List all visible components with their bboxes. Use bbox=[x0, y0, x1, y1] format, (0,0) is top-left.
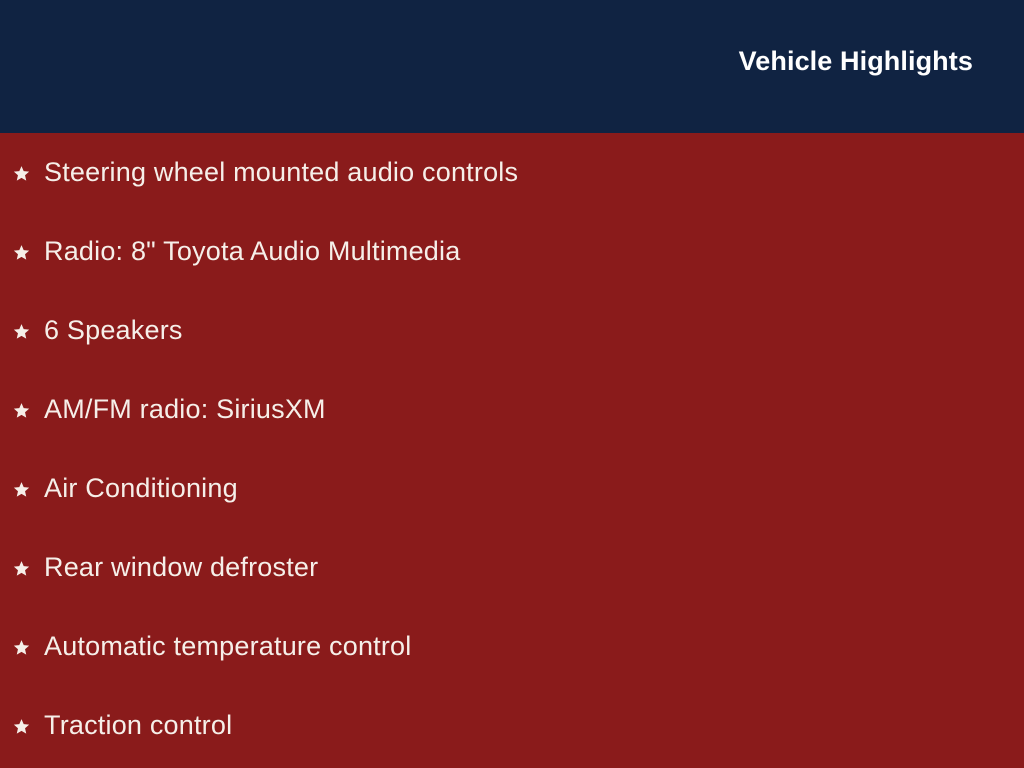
list-item-label: Traction control bbox=[44, 711, 232, 741]
list-item-label: 6 Speakers bbox=[44, 316, 183, 346]
star-icon bbox=[13, 560, 30, 577]
star-icon bbox=[13, 323, 30, 340]
list-item: AM/FM radio: SiriusXM bbox=[0, 370, 1024, 449]
list-item-label: Rear window defroster bbox=[44, 553, 318, 583]
list-item: 6 Speakers bbox=[0, 291, 1024, 370]
star-icon bbox=[13, 718, 30, 735]
list-item: Automatic temperature control bbox=[0, 607, 1024, 686]
star-icon bbox=[13, 481, 30, 498]
slide-header-band: Vehicle Highlights bbox=[0, 0, 1024, 133]
list-item-label: Automatic temperature control bbox=[44, 632, 411, 662]
list-item: Steering wheel mounted audio controls bbox=[0, 133, 1024, 212]
vehicle-highlights-list: Steering wheel mounted audio controls Ra… bbox=[0, 133, 1024, 768]
star-icon bbox=[13, 639, 30, 656]
star-icon bbox=[13, 402, 30, 419]
list-item: Radio: 8" Toyota Audio Multimedia bbox=[0, 212, 1024, 291]
page-title: Vehicle Highlights bbox=[739, 48, 973, 75]
list-item-label: Radio: 8" Toyota Audio Multimedia bbox=[44, 237, 460, 267]
list-item: Rear window defroster bbox=[0, 528, 1024, 607]
list-item-label: Steering wheel mounted audio controls bbox=[44, 158, 518, 188]
list-item-label: AM/FM radio: SiriusXM bbox=[44, 395, 326, 425]
vehicle-highlights-slide: Vehicle Highlights Steering wheel mounte… bbox=[0, 0, 1024, 768]
list-item-label: Air Conditioning bbox=[44, 474, 238, 504]
list-item: Traction control bbox=[0, 686, 1024, 765]
star-icon bbox=[13, 244, 30, 261]
star-icon bbox=[13, 165, 30, 182]
list-item: Air Conditioning bbox=[0, 449, 1024, 528]
